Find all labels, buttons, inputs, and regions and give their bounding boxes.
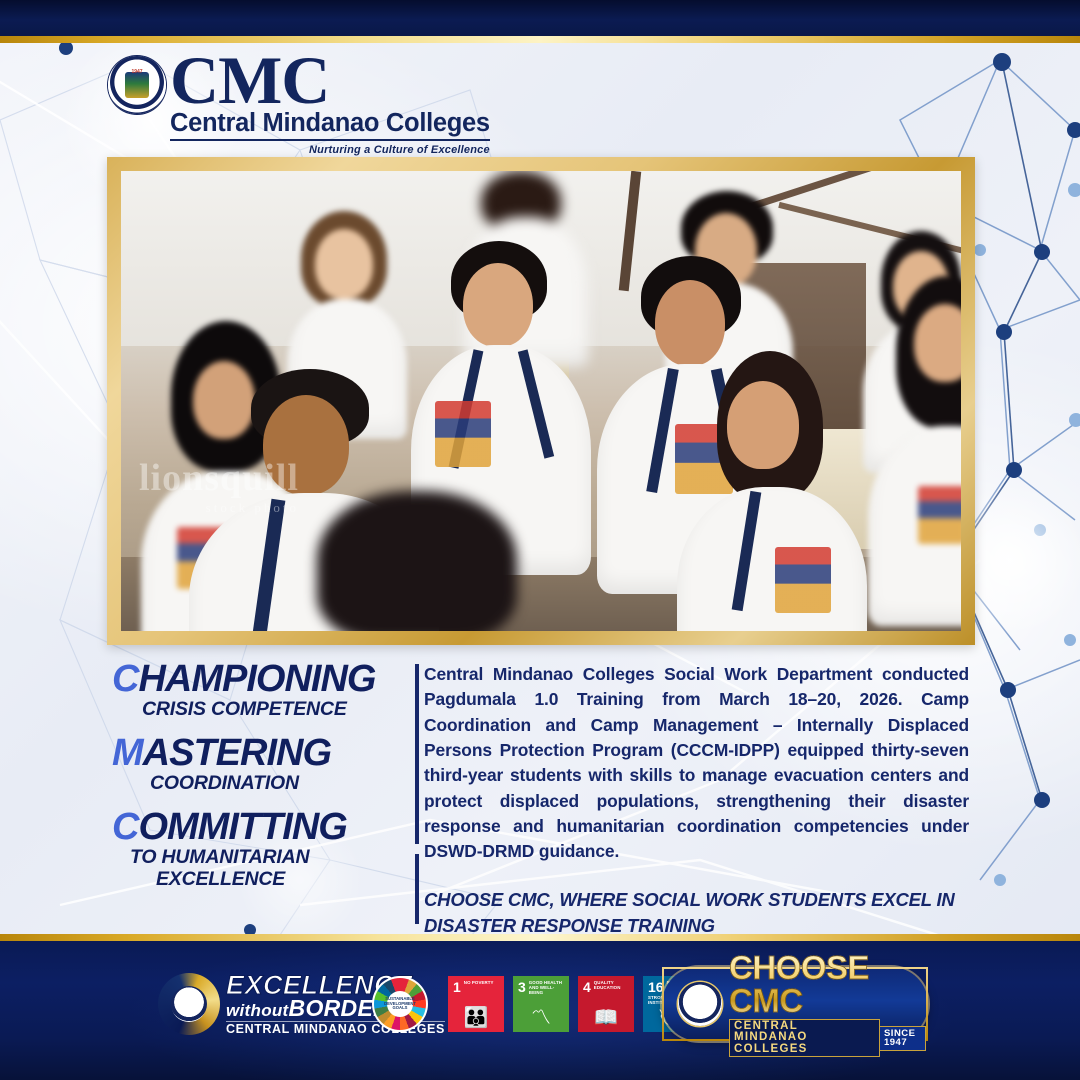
call-to-action: CHOOSE CMC, WHERE SOCIAL WORK STUDENTS E… — [424, 887, 969, 941]
top-navy-band — [0, 0, 1080, 36]
choose-cmc-title: CHOOSE CMC — [729, 951, 926, 1017]
sdg-number: 3 — [518, 980, 526, 994]
headline-line-1: CHAMPIONING CRISIS COMPETENCE — [112, 660, 412, 720]
seal-year-label: 1947 — [108, 69, 166, 75]
headline-subline: TO HUMANITARIAN — [112, 847, 412, 868]
headline-block: CHAMPIONING CRISIS COMPETENCE MASTERING … — [112, 660, 412, 894]
headline-word: ASTERING — [143, 732, 331, 774]
choose-cmc-since: SINCE 1947 — [880, 1026, 926, 1051]
sdg-glyph: 〽 — [513, 1008, 569, 1028]
sdg-glyph: 👪 — [448, 1008, 504, 1028]
cmc-seal-icon: 1947 — [108, 56, 166, 114]
cmc-logo: 1947 CMC Central Mindanao Colleges Nurtu… — [108, 48, 490, 156]
headline-word: HAMPIONING — [138, 658, 375, 700]
bottom-gold-rule — [0, 934, 1080, 941]
headline-subline-extra: EXCELLENCE — [112, 869, 412, 890]
logo-acronym: CMC — [170, 48, 490, 113]
logo-name: Central Mindanao Colleges — [170, 109, 490, 141]
choose-cmc-seal-icon — [678, 982, 722, 1026]
logo-tagline: Nurturing a Culture of Excellence — [170, 144, 490, 156]
headline-line-3: COMMITTING TO HUMANITARIAN EXCELLENCE — [112, 808, 412, 890]
ewb-swirl-icon — [158, 973, 220, 1035]
body-column: Central Mindanao Colleges Social Work De… — [424, 662, 969, 940]
headline-capital: C — [112, 658, 138, 700]
top-gold-rule — [0, 36, 1080, 43]
headline-line-2: MASTERING COORDINATION — [112, 734, 412, 794]
sdg-number: 1 — [453, 980, 461, 994]
event-photo: lionsquill stock photo — [121, 171, 961, 631]
headline-word: OMMITTING — [138, 806, 346, 848]
sdg-1-no-poverty-icon: 1 NO POVERTY 👪 — [448, 976, 504, 1032]
sdg-3-good-health-icon: 3 GOOD HEALTH AND WELL-BEING 〽 — [513, 976, 569, 1032]
ewb-without: without — [226, 1001, 289, 1020]
headline-subline: COORDINATION — [112, 773, 412, 794]
choose-cmc-badge[interactable]: CHOOSE CMC CENTRAL MINDANAO COLLEGES SIN… — [662, 967, 928, 1041]
sdg-wheel-label: SUSTAINABLE DEVELOPMENT GOALS — [387, 991, 413, 1017]
headline-capital: C — [112, 806, 138, 848]
sdg-4-quality-education-icon: 4 QUALITY EDUCATION 📖 — [578, 976, 634, 1032]
photo-watermark: lionsquill stock photo — [139, 456, 299, 516]
body-paragraph: Central Mindanao Colleges Social Work De… — [424, 662, 969, 865]
headline-capital: M — [112, 732, 143, 774]
sdg-wheel-icon: SUSTAINABLE DEVELOPMENT GOALS — [372, 976, 428, 1032]
sdg-number: 4 — [583, 980, 591, 994]
headline-subline: CRISIS COMPETENCE — [112, 699, 412, 720]
poster-canvas: 1947 CMC Central Mindanao Colleges Nurtu… — [0, 0, 1080, 1080]
event-photo-frame: lionsquill stock photo — [107, 157, 975, 645]
sdg-glyph: 📖 — [578, 1008, 634, 1028]
sdg-number: 16 — [648, 980, 664, 994]
choose-cmc-subtitle: CENTRAL MINDANAO COLLEGES — [729, 1019, 880, 1058]
